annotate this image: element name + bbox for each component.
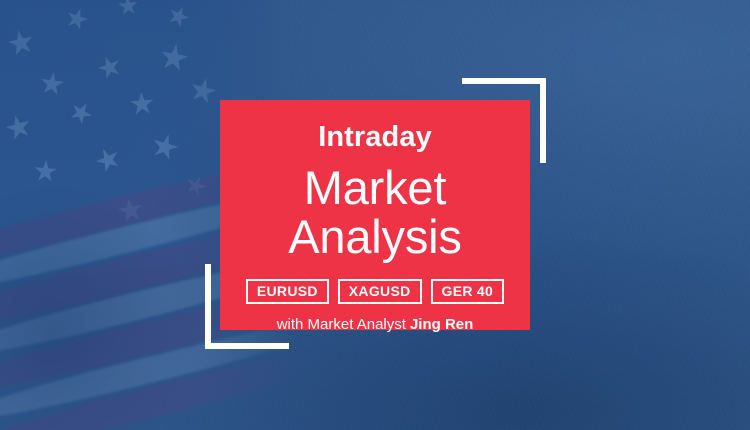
bracket-vertical-line <box>540 78 546 163</box>
byline-prefix: with Market Analyst <box>277 316 406 333</box>
byline: with Market AnalystJing Ren <box>277 317 474 332</box>
instrument-tag-eurusd[interactable]: EURUSD <box>246 279 329 304</box>
bracket-horizontal-line <box>462 78 546 84</box>
page-title: Market Analysis <box>288 164 461 262</box>
title-line-analysis: Analysis <box>288 213 461 262</box>
bracket-vertical-line <box>205 264 211 349</box>
instrument-tag-list: EURUSD XAGUSD GER 40 <box>246 279 504 304</box>
instrument-tag-ger40[interactable]: GER 40 <box>431 279 505 304</box>
instrument-tag-xagusd[interactable]: XAGUSD <box>338 279 422 304</box>
title-line-market: Market <box>288 164 461 213</box>
kicker-text: Intraday <box>318 123 432 152</box>
intraday-market-analysis-banner: Intraday Market Analysis EURUSD XAGUSD G… <box>0 0 750 430</box>
analyst-name: Jing Ren <box>410 316 473 333</box>
bracket-horizontal-line <box>205 343 289 349</box>
red-content-card: Intraday Market Analysis EURUSD XAGUSD G… <box>220 100 530 330</box>
